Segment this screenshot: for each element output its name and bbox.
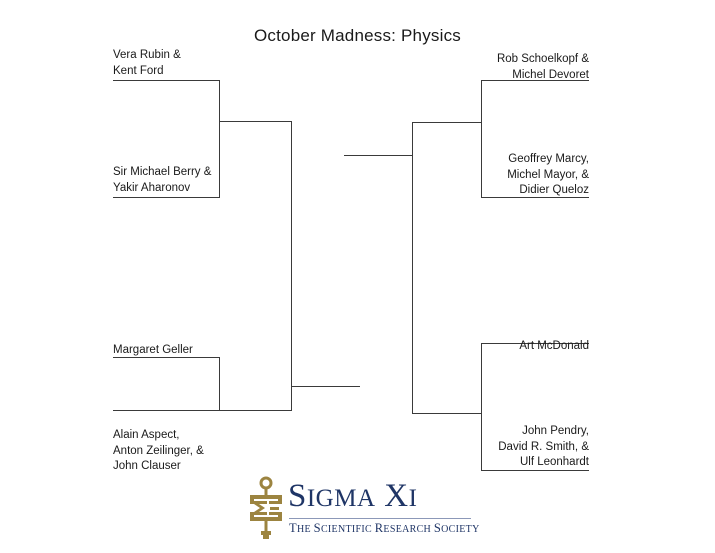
- bracket-connector-left-lower: [219, 357, 220, 411]
- bracket-connector-right-semifinal: [412, 122, 413, 414]
- sigma-xi-key-emblem: [244, 476, 288, 542]
- bracket-line-left-r1-top: [113, 80, 220, 81]
- slide-canvas: October Madness: Physics Vera Rubin & Ke…: [0, 0, 715, 553]
- sigma-xi-tagline: THE SCIENTIFIC RESEARCH SOCIETY: [289, 521, 473, 537]
- bracket-entry-john-pendry-david-smith-ulf-leonhardt[interactable]: John Pendry, David R. Smith, & Ulf Leonh…: [479, 424, 589, 471]
- bracket-entry-michael-berry-yakir-aharonov[interactable]: Sir Michael Berry & Yakir Aharonov: [113, 165, 231, 196]
- bracket-line-right-r2-bottom: [412, 413, 482, 414]
- bracket-line-left-semifinal-out: [291, 386, 360, 387]
- tagline-the-cap: T: [289, 521, 297, 535]
- bracket-entry-alain-aspect-anton-zeilinger-john-clauser[interactable]: Alain Aspect, Anton Zeilinger, & John Cl…: [113, 428, 231, 475]
- bracket-line-left-r1-bottom: [113, 410, 220, 411]
- bracket-line-left-r2-top: [219, 121, 291, 122]
- wordmark-sigma-rest: IGMA: [307, 485, 376, 512]
- bracket-entry-geoffrey-marcy-michel-mayor-didier-queloz[interactable]: Geoffrey Marcy, Michel Mayor, & Didier Q…: [479, 152, 589, 199]
- wordmark-sigma-cap: S: [288, 478, 307, 514]
- logo-divider-rule: [289, 518, 471, 519]
- tagline-scientific-cap: S: [314, 521, 321, 535]
- bracket-line-left-r2-bottom: [219, 410, 291, 411]
- sigma-xi-wordmark-block: SIGMA XI THE SCIENTIFIC RESEARCH SOCIETY: [288, 474, 472, 540]
- tagline-scientific-rest: CIENTIFIC: [321, 524, 375, 535]
- bracket-line-championship: [344, 155, 413, 156]
- bracket-entry-margaret-geller[interactable]: Margaret Geller: [113, 343, 233, 359]
- wordmark-xi-rest: I: [409, 485, 418, 512]
- sigma-xi-wordmark: SIGMA XI: [288, 478, 472, 517]
- sigma-xi-logo: SIGMA XI THE SCIENTIFIC RESEARCH SOCIETY: [240, 474, 472, 542]
- bracket-entry-art-mcdonald[interactable]: Art McDonald: [479, 339, 589, 355]
- bracket-entry-vera-rubin-kent-ford[interactable]: Vera Rubin & Kent Ford: [113, 48, 223, 79]
- page-title: October Madness: Physics: [0, 26, 715, 46]
- wordmark-xi-cap: X: [384, 478, 408, 514]
- bracket-entry-rob-schoelkopf-michel-devoret[interactable]: Rob Schoelkopf & Michel Devoret: [479, 52, 589, 83]
- tagline-the-rest: HE: [297, 524, 314, 535]
- tagline-society-rest: OCIETY: [441, 524, 479, 535]
- tagline-research-rest: ESEARCH: [383, 524, 433, 535]
- bracket-connector-left-semifinal: [291, 121, 292, 411]
- bracket-line-left-r1-second: [113, 197, 220, 198]
- bracket-line-right-r2-top: [412, 122, 482, 123]
